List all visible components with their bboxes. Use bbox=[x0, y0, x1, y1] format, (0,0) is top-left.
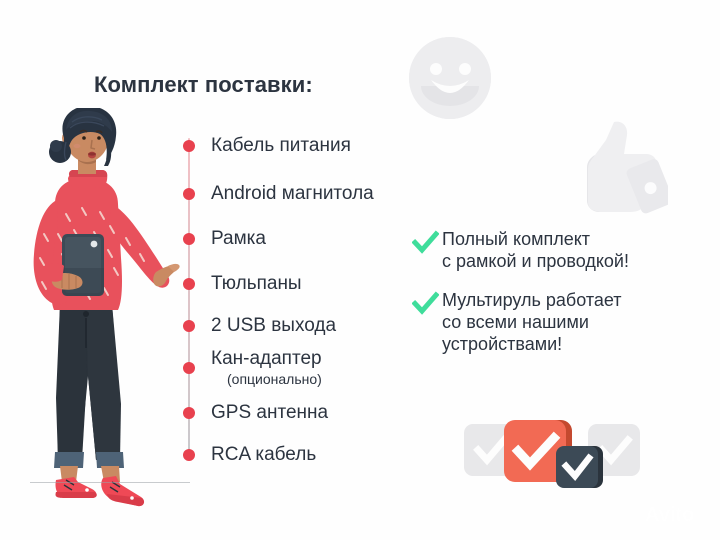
bullet-dot-icon bbox=[183, 320, 195, 332]
list-item-label: Кабель питания bbox=[211, 135, 351, 157]
bullet-dot-icon bbox=[183, 140, 195, 152]
feature-item: Полный комплект с рамкой и проводкой! bbox=[412, 228, 712, 273]
promo-banner: Комплект поставки: Кабель питания Androi… bbox=[0, 0, 720, 540]
list-item-label: Кан-адаптер(опционально) bbox=[211, 348, 322, 387]
feature-label: Мультируль работает со всеми нашими устр… bbox=[442, 287, 622, 356]
feature-highlights: Полный комплект с рамкой и проводкой! Му… bbox=[412, 228, 712, 370]
list-item-sub-text: (опционально) bbox=[227, 371, 322, 387]
bullet-dot-icon bbox=[183, 407, 195, 419]
list-item-label: RCA кабель bbox=[211, 444, 316, 466]
checkbox-square-navy bbox=[556, 446, 598, 488]
page-title: Комплект поставки: bbox=[94, 72, 313, 98]
avito-wordmark: Avito bbox=[645, 504, 694, 526]
avito-logo-icon: Avito bbox=[616, 500, 708, 526]
list-item-main-text: Кан-адаптер bbox=[211, 348, 322, 369]
woman-pointing-illustration bbox=[8, 108, 183, 508]
bullet-dot-icon bbox=[183, 188, 195, 200]
bullet-dot-icon bbox=[183, 233, 195, 245]
feature-item: Мультируль работает со всеми нашими устр… bbox=[412, 287, 712, 356]
list-item-label: 2 USB выхода bbox=[211, 315, 336, 337]
bullet-dot-icon bbox=[183, 278, 195, 290]
list-item-label: GPS антенна bbox=[211, 402, 328, 424]
ground-line bbox=[30, 482, 190, 483]
feature-label: Полный комплект с рамкой и проводкой! bbox=[442, 228, 629, 273]
list-item-label: Рамка bbox=[211, 228, 266, 250]
bullet-dot-icon bbox=[183, 362, 195, 374]
list-item-label: Android магнитола bbox=[211, 183, 374, 205]
bullet-dot-icon bbox=[183, 449, 195, 461]
smiley-face-icon bbox=[408, 36, 492, 120]
checkmark-icon bbox=[412, 290, 439, 317]
checkbox-squares-decoration bbox=[462, 410, 642, 490]
list-item-label: Тюльпаны bbox=[211, 273, 302, 295]
thumbs-up-icon bbox=[576, 118, 668, 214]
checkmark-icon bbox=[412, 229, 439, 256]
